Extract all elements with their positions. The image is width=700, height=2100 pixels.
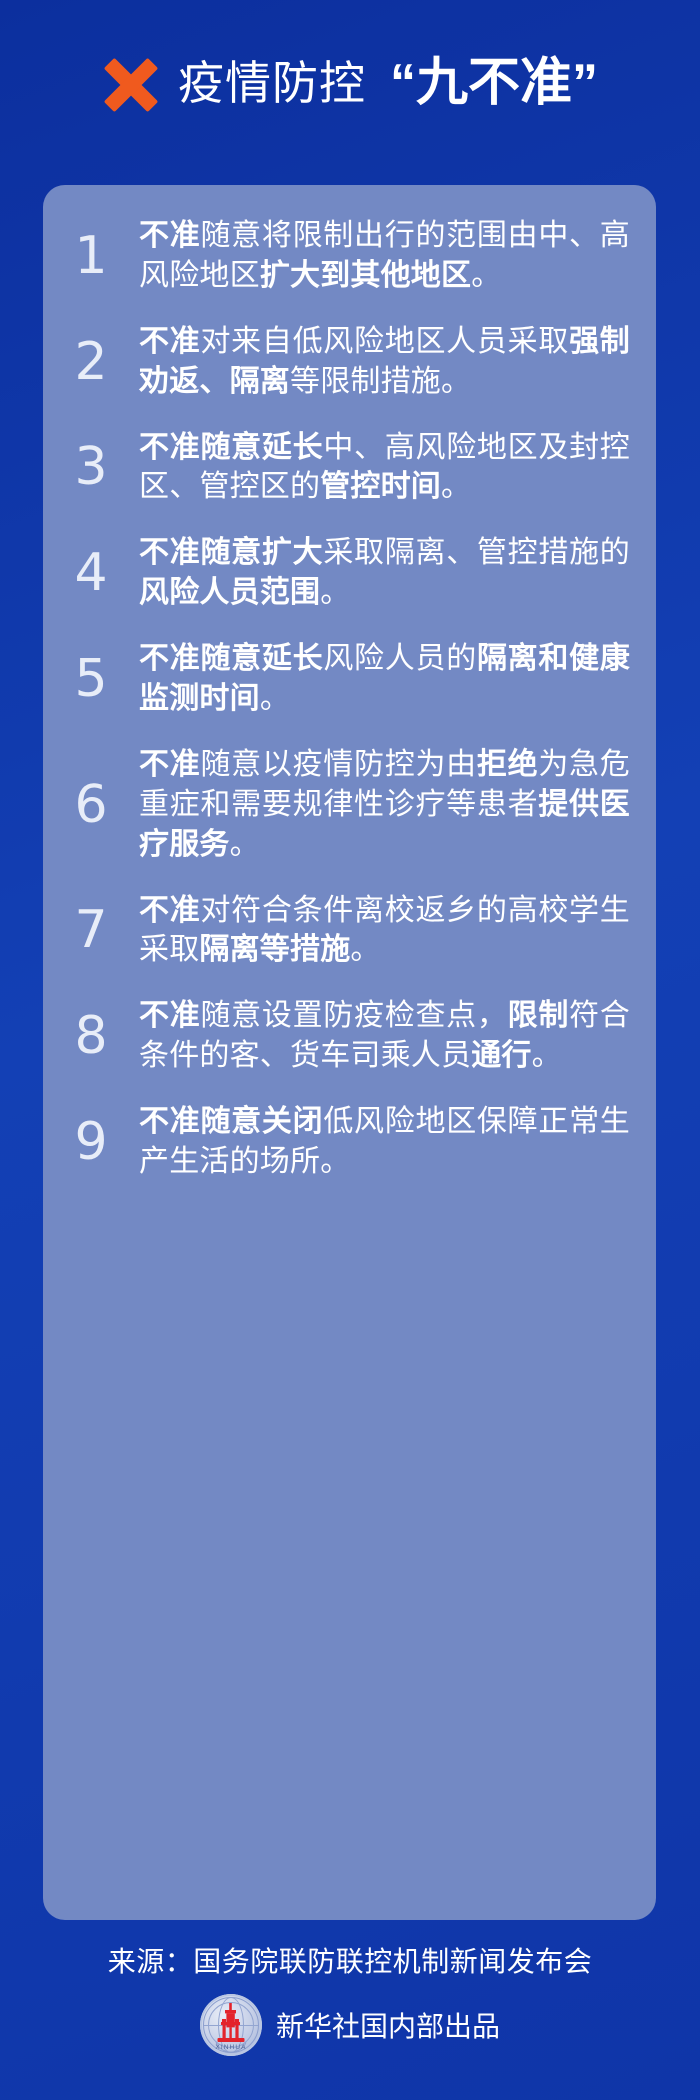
rule-item: 1不准随意将限制出行的范围由中、高风险地区扩大到其他地区。 xyxy=(43,203,656,309)
rule-item: 9不准随意关闭低风险地区保障正常生产生活的场所。 xyxy=(43,1089,656,1195)
credit-label: 新华社国内部出品 xyxy=(276,2005,500,2045)
rule-text-emphasis: 拒绝 xyxy=(477,748,538,781)
rule-number: 5 xyxy=(43,653,139,705)
credit-row: XINHUA 新华社国内部出品 xyxy=(200,1994,500,2056)
rule-item: 7不准对符合条件离校返乡的高校学生采取隔离等措施。 xyxy=(43,878,656,984)
rule-number: 6 xyxy=(43,779,139,831)
rule-text-normal: 。 xyxy=(471,259,501,292)
rule-text-normal: 。 xyxy=(320,576,350,609)
rule-text-normal: 。 xyxy=(350,933,380,966)
rule-item: 4不准随意扩大采取隔离、管控措施的风险人员范围。 xyxy=(43,520,656,626)
rule-text: 不准随意设置防疫检查点，限制符合条件的客、货车司乘人员通行。 xyxy=(139,996,630,1076)
rule-text: 不准随意延长风险人员的隔离和健康监测时间。 xyxy=(139,639,630,719)
rules-card: 1不准随意将限制出行的范围由中、高风险地区扩大到其他地区。2不准对来自低风险地区… xyxy=(43,185,656,1920)
rule-number: 7 xyxy=(43,904,139,956)
rule-text-emphasis: 不准随意关闭 xyxy=(139,1105,323,1138)
rule-text-normal: 风险人员的 xyxy=(323,642,477,675)
xinhua-pagoda-glyph: XINHUA xyxy=(200,1994,262,2056)
infographic-page: 疫情防控 “九不准” 1不准随意将限制出行的范围由中、高风险地区扩大到其他地区。… xyxy=(0,0,700,2100)
rule-text-normal: 。 xyxy=(441,470,471,503)
rule-text-normal: 。 xyxy=(532,1039,562,1072)
rule-number: 8 xyxy=(43,1010,139,1062)
rule-text-normal: 。 xyxy=(230,828,260,861)
rule-text-emphasis: 通行 xyxy=(471,1039,531,1072)
rule-text: 不准对符合条件离校返乡的高校学生采取隔离等措施。 xyxy=(139,891,630,971)
source-line: 来源：国务院联防联控机制新闻发布会 xyxy=(108,1940,593,1980)
rule-text-normal: 采取隔离、管控措施的 xyxy=(323,536,630,569)
rule-text: 不准随意以疫情防控为由拒绝为急危重症和需要规律性诊疗等患者提供医疗服务。 xyxy=(139,745,630,865)
cross-x-icon xyxy=(102,56,160,114)
rule-number: 9 xyxy=(43,1116,139,1168)
rule-text-emphasis: 管控时间 xyxy=(320,470,441,503)
rule-item: 5不准随意延长风险人员的隔离和健康监测时间。 xyxy=(43,626,656,732)
rule-item: 2不准对来自低风险地区人员采取强制劝返、隔离等限制措施。 xyxy=(43,309,656,415)
rule-text: 不准随意扩大采取隔离、管控措施的风险人员范围。 xyxy=(139,533,630,613)
rule-text-normal: 。 xyxy=(260,682,290,715)
rule-text: 不准对来自低风险地区人员采取强制劝返、隔离等限制措施。 xyxy=(139,322,630,402)
rule-text-emphasis: 限制 xyxy=(508,999,569,1032)
rule-number: 2 xyxy=(43,336,139,388)
rule-text-emphasis: 隔离等措施 xyxy=(199,933,350,966)
rule-text: 不准随意延长中、高风险地区及封控区、管控区的管控时间。 xyxy=(139,428,630,508)
rule-text-emphasis: 扩大到其他地区 xyxy=(260,259,471,292)
page-title: 疫情防控 xyxy=(178,60,366,106)
rule-text-emphasis: 不准 xyxy=(139,999,200,1032)
header: 疫情防控 “九不准” xyxy=(0,28,700,138)
rule-text-emphasis: 不准 xyxy=(139,219,200,252)
rule-text-emphasis: 不准 xyxy=(139,894,200,927)
rule-item: 6不准随意以疫情防控为由拒绝为急危重症和需要规律性诊疗等患者提供医疗服务。 xyxy=(43,732,656,878)
rules-list: 1不准随意将限制出行的范围由中、高风险地区扩大到其他地区。2不准对来自低风险地区… xyxy=(43,203,656,1195)
rule-text-emphasis: 风险人员范围 xyxy=(139,576,320,609)
rule-text-emphasis: 不准 xyxy=(139,748,200,781)
rule-text-emphasis: 不准随意扩大 xyxy=(139,536,323,569)
rule-text: 不准随意关闭低风险地区保障正常生产生活的场所。 xyxy=(139,1102,630,1182)
rule-number: 4 xyxy=(43,547,139,599)
rule-number: 3 xyxy=(43,441,139,493)
rule-number: 1 xyxy=(43,230,139,282)
rule-text-emphasis: 不准 xyxy=(139,325,200,358)
rule-text-normal: 对来自低风险地区人员采取 xyxy=(200,325,569,358)
rule-text-emphasis: 不准随意延长 xyxy=(139,431,323,464)
rule-text-normal: 随意以疫情防控为由 xyxy=(200,748,476,781)
rule-item: 3不准随意延长中、高风险地区及封控区、管控区的管控时间。 xyxy=(43,415,656,521)
rule-text-normal: 等限制措施。 xyxy=(290,365,471,398)
footer: 来源：国务院联防联控机制新闻发布会 xyxy=(0,1940,700,2056)
rule-text-normal: 随意设置防疫检查点， xyxy=(200,999,507,1032)
rule-text-emphasis: 不准随意延长 xyxy=(139,642,323,675)
svg-text:XINHUA: XINHUA xyxy=(215,2044,246,2051)
rule-item: 8不准随意设置防疫检查点，限制符合条件的客、货车司乘人员通行。 xyxy=(43,983,656,1089)
page-title-quoted: “九不准” xyxy=(390,57,598,109)
xinhua-logo-icon: XINHUA xyxy=(200,1994,262,2056)
rule-text: 不准随意将限制出行的范围由中、高风险地区扩大到其他地区。 xyxy=(139,216,630,296)
